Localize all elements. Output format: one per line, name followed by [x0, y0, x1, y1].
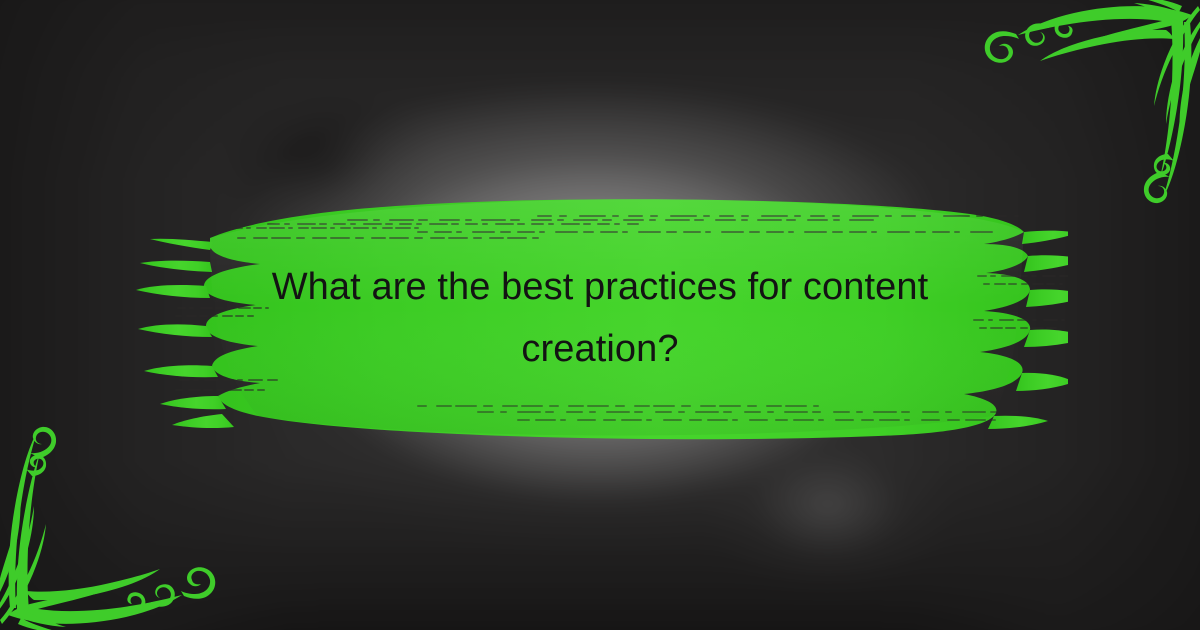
banner-canvas: What are the best practices for content …	[0, 0, 1200, 630]
page-title: What are the best practices for content …	[190, 256, 1010, 380]
